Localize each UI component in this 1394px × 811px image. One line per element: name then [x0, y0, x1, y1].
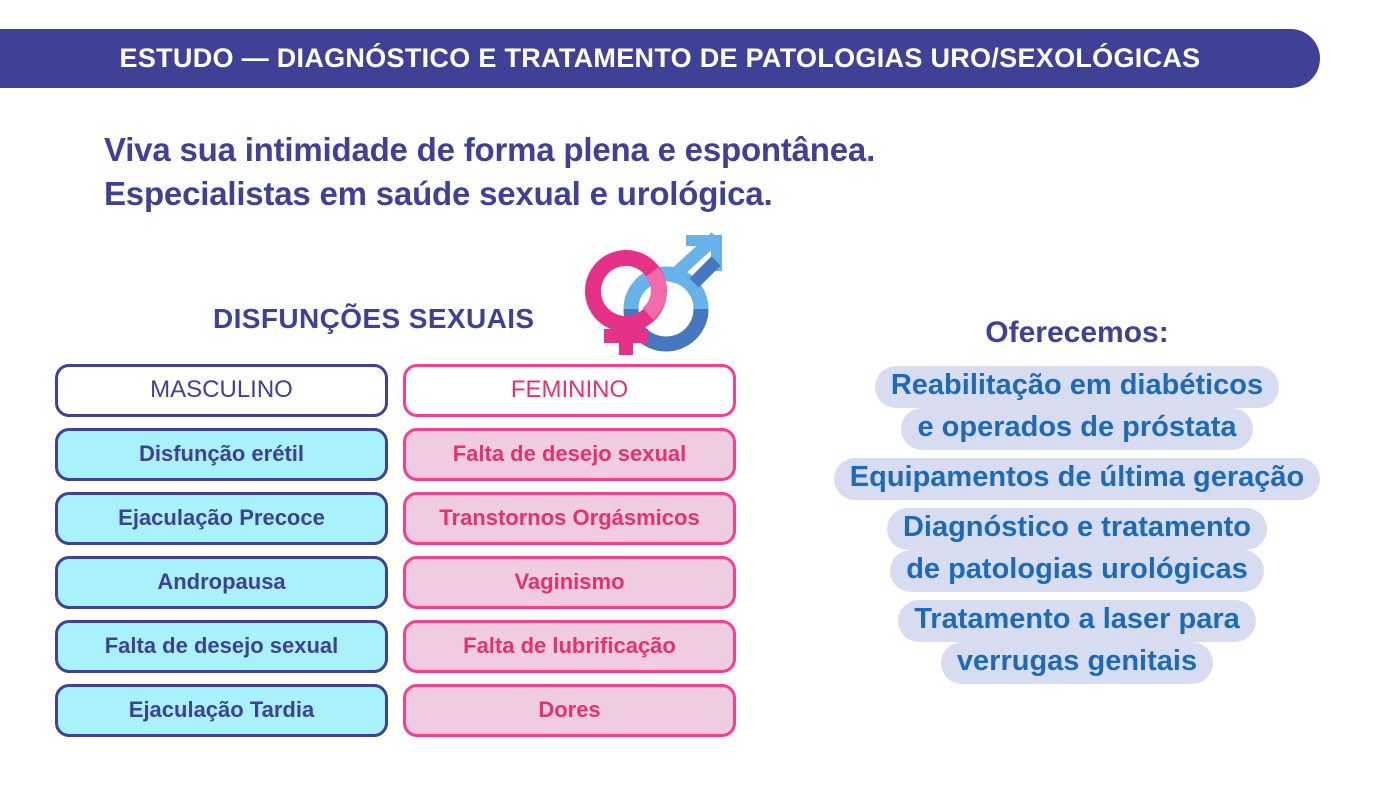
list-item[interactable]: Falta de desejo sexual [55, 620, 388, 673]
gender-symbols-icon [556, 231, 736, 357]
list-item[interactable]: Diagnóstico e tratamento de patologias u… [760, 508, 1394, 592]
offer-line: Reabilitação em diabéticos [875, 366, 1279, 408]
list-item[interactable]: Falta de desejo sexual [403, 428, 736, 481]
list-item[interactable]: Reabilitação em diabéticos e operados de… [760, 366, 1394, 450]
list-item[interactable]: Tratamento a laser para verrugas genitai… [760, 600, 1394, 684]
list-item[interactable]: Dores [403, 684, 736, 737]
offer-line: Equipamentos de última geração [834, 458, 1320, 500]
list-item[interactable]: Falta de lubrificação [403, 620, 736, 673]
offers-title: Oferecemos: [985, 316, 1168, 350]
list-item[interactable]: Transtornos Orgásmicos [403, 492, 736, 545]
subtitle-line-1: Viva sua intimidade de forma plena e esp… [104, 128, 1004, 172]
female-dysfunctions-column: FEMININO Falta de desejo sexual Transtor… [403, 364, 736, 737]
dysfunctions-heading: DISFUNÇÕES SEXUAIS [213, 303, 534, 335]
list-item[interactable]: Vaginismo [403, 556, 736, 609]
male-column-header: MASCULINO [55, 364, 388, 417]
offer-line: Tratamento a laser para [898, 600, 1256, 642]
page-title: ESTUDO — DIAGNÓSTICO E TRATAMENTO DE PAT… [120, 43, 1201, 74]
list-item[interactable]: Disfunção erétil [55, 428, 388, 481]
list-item[interactable]: Equipamentos de última geração [760, 458, 1394, 500]
subtitle-line-2: Especialistas em saúde sexual e urológic… [104, 172, 1004, 216]
header-bar: ESTUDO — DIAGNÓSTICO E TRATAMENTO DE PAT… [0, 29, 1320, 88]
female-column-header: FEMININO [403, 364, 736, 417]
offer-line: e operados de próstata [901, 408, 1252, 450]
subtitle-block: Viva sua intimidade de forma plena e esp… [104, 128, 1004, 216]
list-item[interactable]: Andropausa [55, 556, 388, 609]
offer-line: Diagnóstico e tratamento [887, 508, 1267, 550]
offers-section: Oferecemos: Reabilitação em diabéticos e… [760, 316, 1394, 692]
male-dysfunctions-column: MASCULINO Disfunção erétil Ejaculação Pr… [55, 364, 388, 737]
list-item[interactable]: Ejaculação Tardia [55, 684, 388, 737]
offer-line: verrugas genitais [941, 642, 1213, 684]
list-item[interactable]: Ejaculação Precoce [55, 492, 388, 545]
offer-line: de patologias urológicas [890, 550, 1264, 592]
